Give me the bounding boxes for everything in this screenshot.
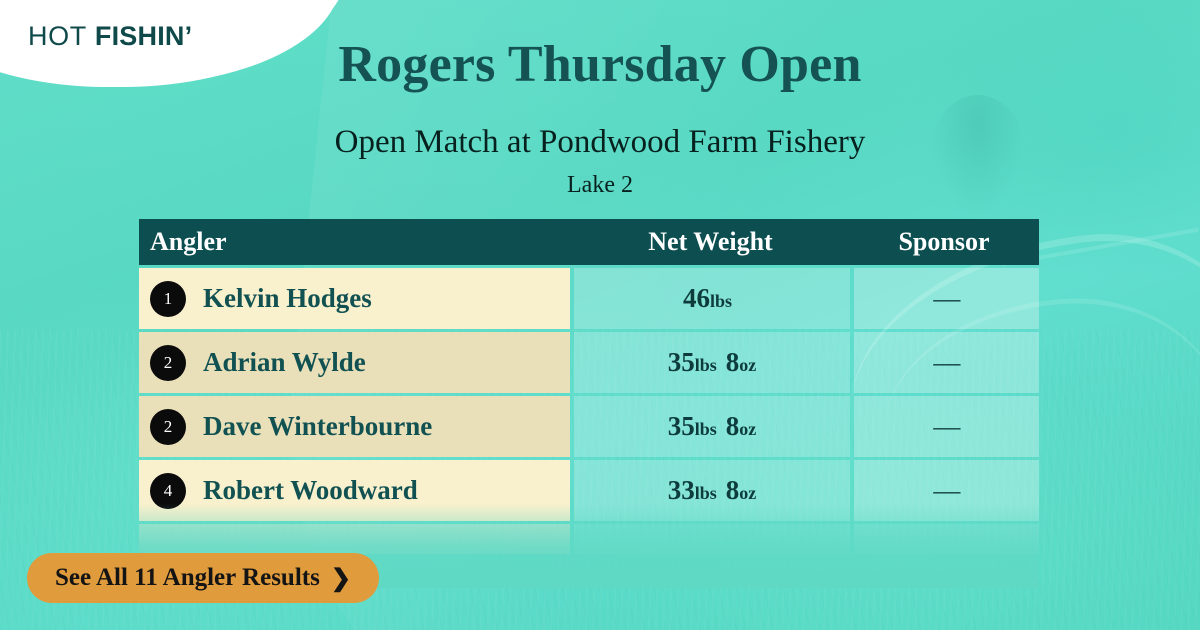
column-header-angler: Angler xyxy=(139,227,572,257)
cell-sponsor: — xyxy=(854,396,1039,457)
position-badge: 2 xyxy=(150,345,186,381)
chevron-right-icon: ❯ xyxy=(331,564,351,593)
net-weight-value: 46lbs xyxy=(683,283,741,314)
cell-angler: 2 Dave Winterbourne xyxy=(139,396,570,457)
table-body: 1 Kelvin Hodges 46lbs — 2 Adrian Wylde 3… xyxy=(139,268,1039,554)
result-card: HOT FISHIN’ Rogers Thursday Open Open Ma… xyxy=(0,0,1200,630)
see-all-results-button[interactable]: See All 11 Angler Results ❯ xyxy=(27,553,379,603)
angler-name: Dave Winterbourne xyxy=(203,411,432,442)
table-header-row: Angler Net Weight Sponsor xyxy=(139,219,1039,265)
cell-net-weight: 46lbs xyxy=(574,268,850,329)
cell-angler: 4 Robert Woodward xyxy=(139,460,570,521)
cell-angler: 2 Adrian Wylde xyxy=(139,332,570,393)
logo-word-hot: HOT xyxy=(28,21,87,51)
table-row-truncated xyxy=(139,524,1039,554)
angler-name: Adrian Wylde xyxy=(203,347,366,378)
cell-net-weight: 35lbs8oz xyxy=(574,332,850,393)
position-badge: 4 xyxy=(150,473,186,509)
position-badge: 2 xyxy=(150,409,186,445)
cell-sponsor-truncated xyxy=(854,524,1039,554)
cell-net-weight: 35lbs8oz xyxy=(574,396,850,457)
column-header-net-weight: Net Weight xyxy=(572,227,849,257)
sponsor-value: — xyxy=(933,411,959,442)
sponsor-value: — xyxy=(933,475,959,506)
results-table: Angler Net Weight Sponsor 1 Kelvin Hodge… xyxy=(139,219,1039,554)
net-weight-value: 35lbs8oz xyxy=(668,347,757,378)
sponsor-value: — xyxy=(933,283,959,314)
cell-sponsor: — xyxy=(854,332,1039,393)
match-subtitle: Open Match at Pondwood Farm Fishery xyxy=(0,124,1200,161)
table-row[interactable]: 2 Dave Winterbourne 35lbs8oz — xyxy=(139,396,1039,457)
sponsor-value: — xyxy=(933,347,959,378)
logo-word-fishin: FISHIN’ xyxy=(95,21,192,51)
cell-net-weight: 33lbs8oz xyxy=(574,460,850,521)
cell-angler: 1 Kelvin Hodges xyxy=(139,268,570,329)
net-weight-value: 35lbs8oz xyxy=(668,411,757,442)
see-all-results-label: See All 11 Angler Results xyxy=(55,564,320,592)
table-row[interactable]: 4 Robert Woodward 33lbs8oz — xyxy=(139,460,1039,521)
table-row[interactable]: 1 Kelvin Hodges 46lbs — xyxy=(139,268,1039,329)
table-row[interactable]: 2 Adrian Wylde 35lbs8oz — xyxy=(139,332,1039,393)
column-header-sponsor: Sponsor xyxy=(849,227,1039,257)
cell-angler-truncated xyxy=(139,524,570,554)
net-weight-value: 33lbs8oz xyxy=(668,475,757,506)
venue-label: Lake 2 xyxy=(0,172,1200,199)
cell-net-weight-truncated xyxy=(574,524,850,554)
position-badge: 1 xyxy=(150,281,186,317)
angler-name: Kelvin Hodges xyxy=(203,283,372,314)
cell-sponsor: — xyxy=(854,460,1039,521)
logo[interactable]: HOT FISHIN’ xyxy=(28,21,192,52)
cell-sponsor: — xyxy=(854,268,1039,329)
angler-name: Robert Woodward xyxy=(203,475,418,506)
